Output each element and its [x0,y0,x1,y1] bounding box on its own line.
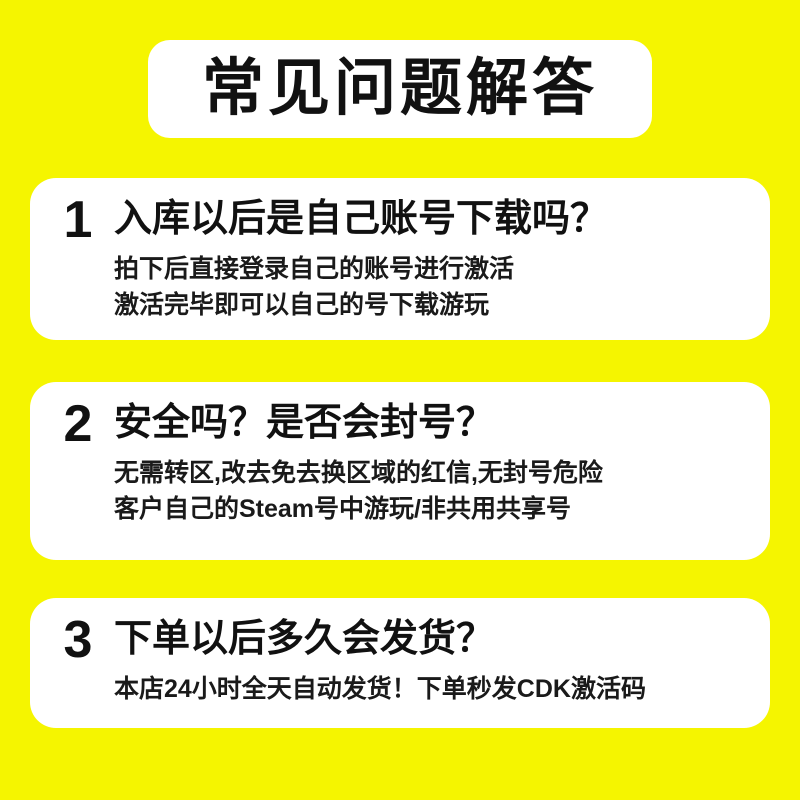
faq-question-2: 安全吗？是否会封号？ [114,403,494,445]
faq-answer-line: 无需转区,改去免去换区域的红信,无封号危险 [114,456,744,492]
faq-number-2: 2 [56,398,100,450]
faq-answer-line: 拍下后直接登录自己的账号进行激活 [114,252,744,288]
faq-question-row-2: 2 安全吗？是否会封号？ [56,398,744,450]
faq-answer-line: 客户自己的Steam号中游玩/非共用共享号 [114,492,744,528]
faq-number-1: 1 [56,194,100,246]
faq-answer-3: 本店24小时全天自动发货！下单秒发CDK激活码 [114,672,744,708]
faq-question-1: 入库以后是自己账号下载吗？ [114,199,608,241]
page-title: 常见问题解答 [202,58,598,120]
faq-answer-line: 激活完毕即可以自己的号下载游玩 [114,288,744,324]
faq-answer-2: 无需转区,改去免去换区域的红信,无封号危险 客户自己的Steam号中游玩/非共用… [114,456,744,527]
faq-question-3: 下单以后多久会发货？ [114,619,494,661]
faq-answer-line: 本店24小时全天自动发货！下单秒发CDK激活码 [114,672,744,708]
faq-question-row-3: 3 下单以后多久会发货？ [56,614,744,666]
title-banner: 常见问题解答 [148,40,652,138]
faq-number-3: 3 [56,614,100,666]
faq-page: 常见问题解答 1 入库以后是自己账号下载吗？ 拍下后直接登录自己的账号进行激活 … [0,0,800,800]
faq-card-3: 3 下单以后多久会发货？ 本店24小时全天自动发货！下单秒发CDK激活码 [30,598,770,728]
faq-question-row-1: 1 入库以后是自己账号下载吗？ [56,194,744,246]
faq-card-2: 2 安全吗？是否会封号？ 无需转区,改去免去换区域的红信,无封号危险 客户自己的… [30,382,770,560]
faq-answer-1: 拍下后直接登录自己的账号进行激活 激活完毕即可以自己的号下载游玩 [114,252,744,323]
faq-card-1: 1 入库以后是自己账号下载吗？ 拍下后直接登录自己的账号进行激活 激活完毕即可以… [30,178,770,340]
